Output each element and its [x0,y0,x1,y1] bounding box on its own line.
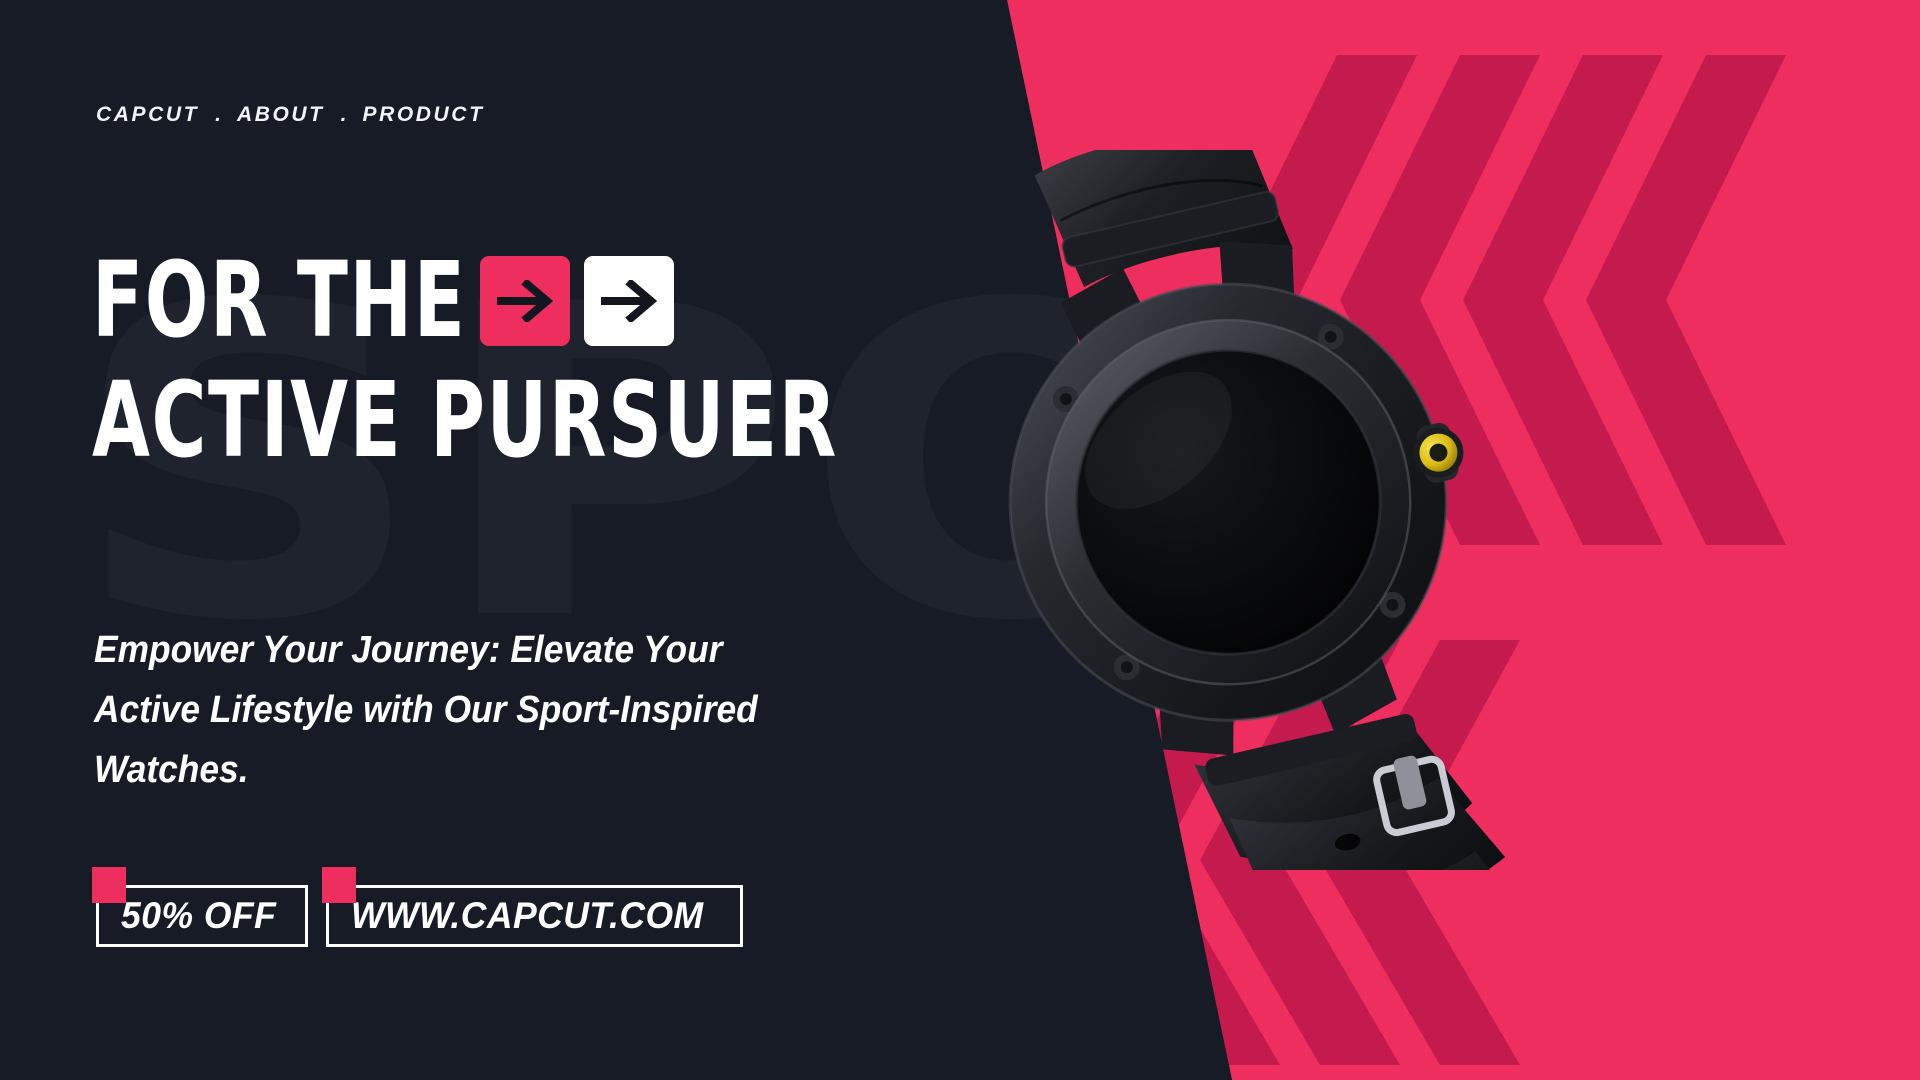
nav-separator-1: . [199,103,237,127]
arrow-right-pink-button[interactable] [480,256,570,346]
top-navigation: CAPCUT . ABOUT . PRODUCT [96,103,485,127]
arrow-button-group [480,256,674,346]
pink-corner-square [92,867,126,903]
arrow-right-icon [497,280,553,322]
discount-badge-wrap: 50% OFF [96,885,308,947]
website-badge-label: WWW.CAPCUT.COM [351,895,704,937]
subtitle-text: Empower Your Journey: Elevate Your Activ… [94,620,801,800]
headline-line2: ACTIVE PURSUER [92,372,838,470]
website-badge-wrap: WWW.CAPCUT.COM [326,885,743,947]
headline-line1: FOR THE [92,252,467,350]
arrow-right-icon [601,280,657,322]
nav-item-product[interactable]: PRODUCT [362,103,484,127]
banner-canvas: SPO CAPCUT . ABOUT . PRODUCT FOR THE [0,0,1920,1080]
discount-badge-label: 50% OFF [121,895,276,937]
nav-separator-2: . [325,103,363,127]
nav-item-capcut[interactable]: CAPCUT [96,103,199,127]
badge-row: 50% OFF WWW.CAPCUT.COM [96,885,743,947]
arrow-right-white-button[interactable] [584,256,674,346]
product-image-smartwatch [880,150,1580,870]
nav-item-about[interactable]: ABOUT [237,103,325,127]
discount-badge[interactable]: 50% OFF [96,885,308,947]
pink-corner-square [322,867,356,903]
website-badge[interactable]: WWW.CAPCUT.COM [326,885,743,947]
